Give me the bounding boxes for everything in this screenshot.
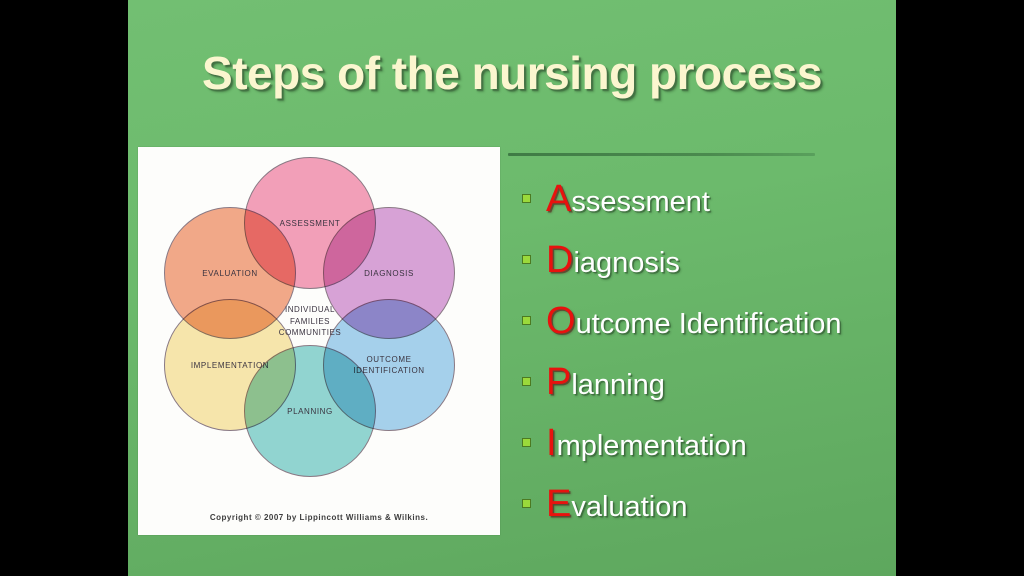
list-item-initial: D [546, 239, 573, 281]
list-item-label: Diagnosis [546, 241, 680, 279]
letterbox-left-bar [0, 0, 128, 576]
bullet-square-icon [522, 499, 531, 508]
list-item-label: Outcome Identification [546, 302, 842, 340]
venn-circle-evaluation-label: EVALUATION [202, 268, 258, 279]
list-item: Planning [508, 351, 888, 412]
venn-circle-assessment-label: ASSESSMENT [280, 218, 341, 229]
bullet-square-icon [522, 377, 531, 386]
venn-circle-diagnosis-label: DIAGNOSIS [364, 268, 414, 279]
diagram-image-panel: ASSESSMENT DIAGNOSIS OUTCOME IDENTIFICAT… [138, 147, 500, 535]
letterbox-right-bar [896, 0, 1024, 576]
venn-center-line-3: COMMUNITIES [269, 327, 351, 339]
list-item-rest: lanning [571, 369, 665, 401]
venn-center-line-2: FAMILIES [269, 316, 351, 328]
list-item-rest: mplementation [557, 430, 747, 462]
list-item: Evaluation [508, 473, 888, 534]
copyright-notice: Copyright © 2007 by Lippincott Williams … [138, 513, 500, 522]
list-item-rest: utcome Identification [576, 308, 842, 340]
list-item-rest: ssessment [571, 186, 710, 218]
bullet-square-icon [522, 316, 531, 325]
list-item-label: Planning [546, 363, 665, 401]
list-item: Diagnosis [508, 229, 888, 290]
list-item-initial: O [546, 300, 576, 342]
list-item: Implementation [508, 412, 888, 473]
venn-center-label: INDIVIDUAL FAMILIES COMMUNITIES [269, 304, 351, 339]
presentation-screen: Steps of the nursing process ASSESSMENT … [0, 0, 1024, 576]
list-item-initial: E [546, 483, 571, 525]
list-item-initial: I [546, 422, 557, 464]
bullet-square-icon [522, 255, 531, 264]
bullet-square-icon [522, 194, 531, 203]
list-item-initial: P [546, 361, 571, 403]
list-item-label: Assessment [546, 180, 710, 218]
list-item-rest: valuation [571, 491, 687, 523]
page-title: Steps of the nursing process [128, 46, 896, 100]
list-item: Outcome Identification [508, 290, 888, 351]
venn-diagram: ASSESSMENT DIAGNOSIS OUTCOME IDENTIFICAT… [138, 147, 500, 507]
list-item-rest: iagnosis [573, 247, 679, 279]
bullet-square-icon [522, 438, 531, 447]
list-item-initial: A [546, 178, 571, 220]
nursing-steps-list: Assessment Diagnosis Outcome Identificat… [508, 168, 888, 534]
list-item-label: Implementation [546, 424, 747, 462]
list-item: Assessment [508, 168, 888, 229]
horizontal-rule [508, 153, 815, 156]
venn-circle-implementation-label: IMPLEMENTATION [191, 360, 269, 371]
venn-center-line-1: INDIVIDUAL [269, 304, 351, 316]
slide-canvas: Steps of the nursing process ASSESSMENT … [128, 0, 896, 576]
list-item-label: Evaluation [546, 485, 687, 523]
venn-circle-planning-label: PLANNING [287, 406, 333, 417]
